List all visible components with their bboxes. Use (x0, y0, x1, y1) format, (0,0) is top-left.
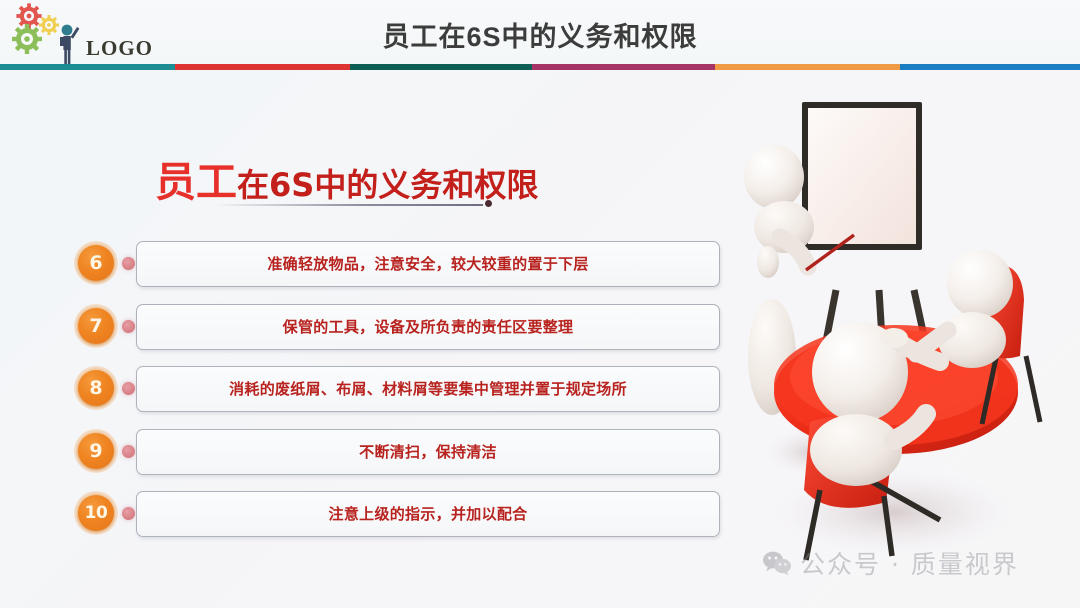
connector-dot-icon (122, 257, 135, 270)
watermark: 公众号 · 质量视界 (762, 545, 1019, 581)
wechat-icon (762, 550, 792, 576)
watermark-text: 公众号 · 质量视界 (800, 545, 1019, 581)
list-item-number: 10 (78, 495, 114, 531)
list-item-text: 注意上级的指示，并加以配合 (137, 492, 719, 536)
main-title-rest: 在6S中的义务和权限 (237, 166, 538, 204)
list-item-box[interactable]: 准确轻放物品，注意安全，较大较重的置于下层 (136, 241, 720, 287)
list-item-badge: 7 (74, 304, 118, 348)
slide-header: LOGO 员工在6S中的义务和权限 (0, 0, 1080, 68)
list-item-text: 不断清扫，保持清洁 (137, 430, 719, 474)
list-item-badge: 8 (74, 366, 118, 410)
list-item-box[interactable]: 消耗的废纸屑、布屑、材料屑等要集中管理并置于规定场所 (136, 366, 720, 412)
list-item-number: 8 (78, 370, 114, 406)
list-item-box[interactable]: 保管的工具，设备及所负责的责任区要整理 (136, 304, 720, 350)
list-item-number: 6 (78, 245, 114, 281)
list-item-text: 准确轻放物品，注意安全，较大较重的置于下层 (137, 242, 719, 286)
title-underline-dot (485, 200, 492, 207)
meeting-illustration (744, 72, 1080, 572)
list-item-number: 7 (78, 308, 114, 344)
main-title-emphasis: 员工 (155, 158, 237, 206)
list-item-badge: 10 (74, 491, 118, 535)
connector-dot-icon (122, 445, 135, 458)
list-item-text: 保管的工具，设备及所负责的责任区要整理 (137, 305, 719, 349)
list-item-text: 消耗的废纸屑、布屑、材料屑等要集中管理并置于规定场所 (137, 367, 719, 411)
connector-dot-icon (122, 382, 135, 395)
main-title: 员工在6S中的义务和权限 (155, 148, 538, 208)
list-item-box[interactable]: 注意上级的指示，并加以配合 (136, 491, 720, 537)
list-item-box[interactable]: 不断清扫，保持清洁 (136, 429, 720, 475)
list-item-badge: 9 (74, 429, 118, 473)
connector-dot-icon (122, 507, 135, 520)
slide: LOGO 员工在6S中的义务和权限 员工在6S中的义务和权限 6准确轻放物品，注… (0, 0, 1080, 608)
list-item-number: 9 (78, 433, 114, 469)
title-underline (215, 204, 483, 206)
page-title: 员工在6S中的义务和权限 (0, 20, 1080, 54)
connector-dot-icon (122, 320, 135, 333)
list-item-badge: 6 (74, 241, 118, 285)
